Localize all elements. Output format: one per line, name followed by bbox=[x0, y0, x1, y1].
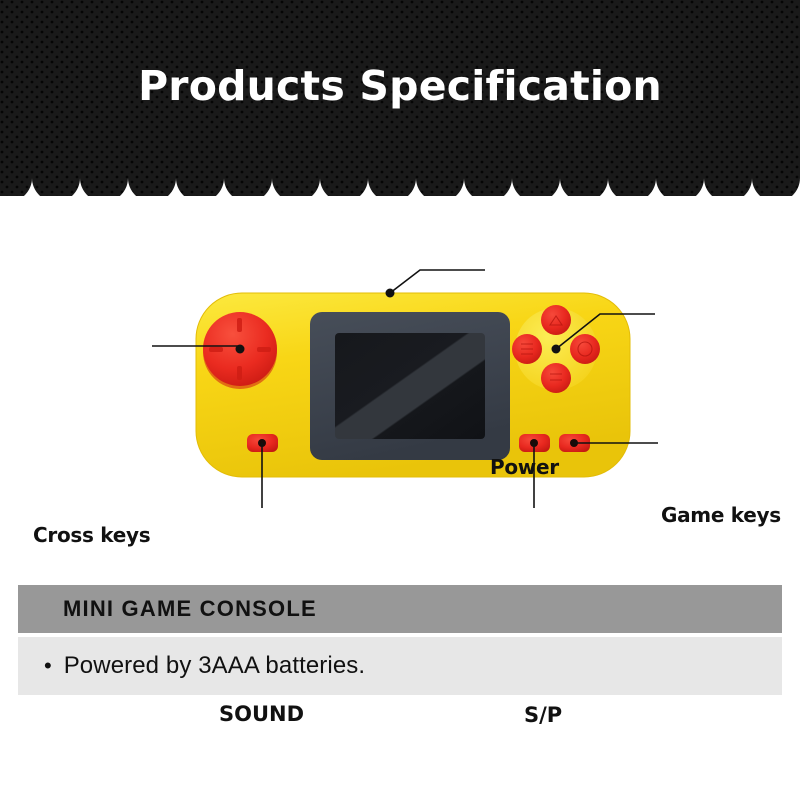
spec-table: MINI GAME CONSOLE • Powered by 3AAA batt… bbox=[18, 585, 782, 695]
callout-label-game-keys: Game keys bbox=[661, 503, 781, 527]
game-key-down bbox=[541, 363, 571, 393]
spec-table-row-text: Powered by 3AAA batteries. bbox=[64, 652, 365, 680]
page-title: Products Specification bbox=[0, 62, 800, 110]
console-screen bbox=[310, 312, 510, 460]
leader-power bbox=[390, 270, 485, 293]
game-key-right bbox=[570, 334, 600, 364]
callout-label-power: Power bbox=[490, 455, 559, 479]
callout-label-sp: S/P bbox=[524, 703, 562, 727]
bullet-icon: • bbox=[44, 655, 52, 677]
page-header: Products Specification bbox=[0, 0, 800, 196]
spec-table-header-label: MINI GAME CONSOLE bbox=[63, 596, 317, 622]
callout-label-sound: SOUND bbox=[219, 702, 304, 726]
game-key-up bbox=[541, 305, 571, 335]
spec-table-row: • Powered by 3AAA batteries. bbox=[18, 637, 782, 695]
product-diagram: Cross keys Power Game keys Reset SOUND S… bbox=[0, 196, 800, 576]
callout-label-cross-keys: Cross keys bbox=[33, 523, 150, 547]
spec-table-header: MINI GAME CONSOLE bbox=[18, 585, 782, 633]
